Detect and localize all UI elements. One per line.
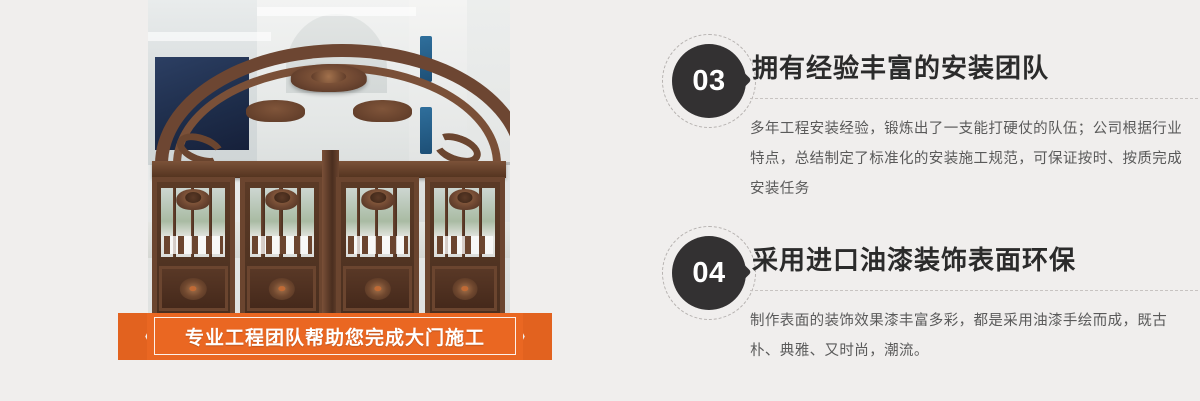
panel-balustrade — [164, 236, 223, 254]
badge-03: 03 — [672, 44, 746, 118]
feature-body-03: 多年工程安装经验，锻炼出了一支能打硬仗的队伍；公司根据行业特点，总结制定了标准化… — [750, 114, 1190, 204]
gate-photo-image — [148, 0, 510, 358]
panel-medallion — [176, 189, 210, 210]
badge-number-03: 03 — [672, 44, 746, 118]
panel-glass — [346, 188, 410, 257]
gate-panel-3 — [336, 177, 419, 320]
panel-rosette — [452, 278, 477, 300]
feature-divider-04 — [750, 290, 1198, 291]
gate-structure — [148, 0, 510, 358]
panel-medallion — [361, 189, 395, 210]
badge-04: 04 — [672, 236, 746, 310]
panel-skirt — [247, 266, 316, 311]
panel-balustrade — [252, 236, 311, 254]
panel-rosette — [180, 278, 206, 300]
feature-body-04: 制作表面的装饰效果漆丰富多彩，都是采用油漆手绘而成，既古朴、典雅、又时尚，潮流。 — [750, 306, 1190, 366]
panel-balustrade — [348, 236, 407, 254]
feature-title-04: 采用进口油漆装饰表面环保 — [752, 240, 1076, 277]
panel-glass — [161, 188, 225, 257]
panel-skirt — [343, 266, 412, 311]
crown-plume-right — [353, 100, 412, 121]
panel-balustrade — [437, 236, 493, 254]
feature-title-03: 拥有经验丰富的安装团队 — [752, 48, 1049, 85]
ribbon-banner: 专业工程团队帮助您完成大门施工 — [118, 313, 552, 360]
panel-rosette — [269, 278, 295, 300]
panel-skirt — [432, 266, 497, 311]
crown-finial — [291, 64, 367, 92]
gate-photo — [148, 0, 510, 358]
panel-medallion — [265, 189, 299, 210]
panel-medallion — [449, 189, 481, 210]
panel-skirt — [159, 266, 228, 311]
gate-panel-2 — [240, 177, 323, 320]
crown-plume-left — [246, 100, 305, 121]
badge-number-04: 04 — [672, 236, 746, 310]
feature-list: 03 拥有经验丰富的安装团队 多年工程安装经验，锻炼出了一支能打硬仗的队伍；公司… — [650, 0, 1200, 401]
panel-glass — [434, 188, 495, 257]
gate-crown — [155, 57, 503, 164]
panel-glass — [250, 188, 314, 257]
page-root: 专业工程团队帮助您完成大门施工 03 拥有经验丰富的安装团队 多年工程安装经验，… — [0, 0, 1200, 401]
gate-panel-1 — [152, 177, 235, 320]
ribbon-caption: 专业工程团队帮助您完成大门施工 — [118, 313, 552, 360]
gate-panel-4 — [425, 177, 505, 320]
panel-rosette — [365, 278, 391, 300]
feature-divider-03 — [750, 98, 1198, 99]
